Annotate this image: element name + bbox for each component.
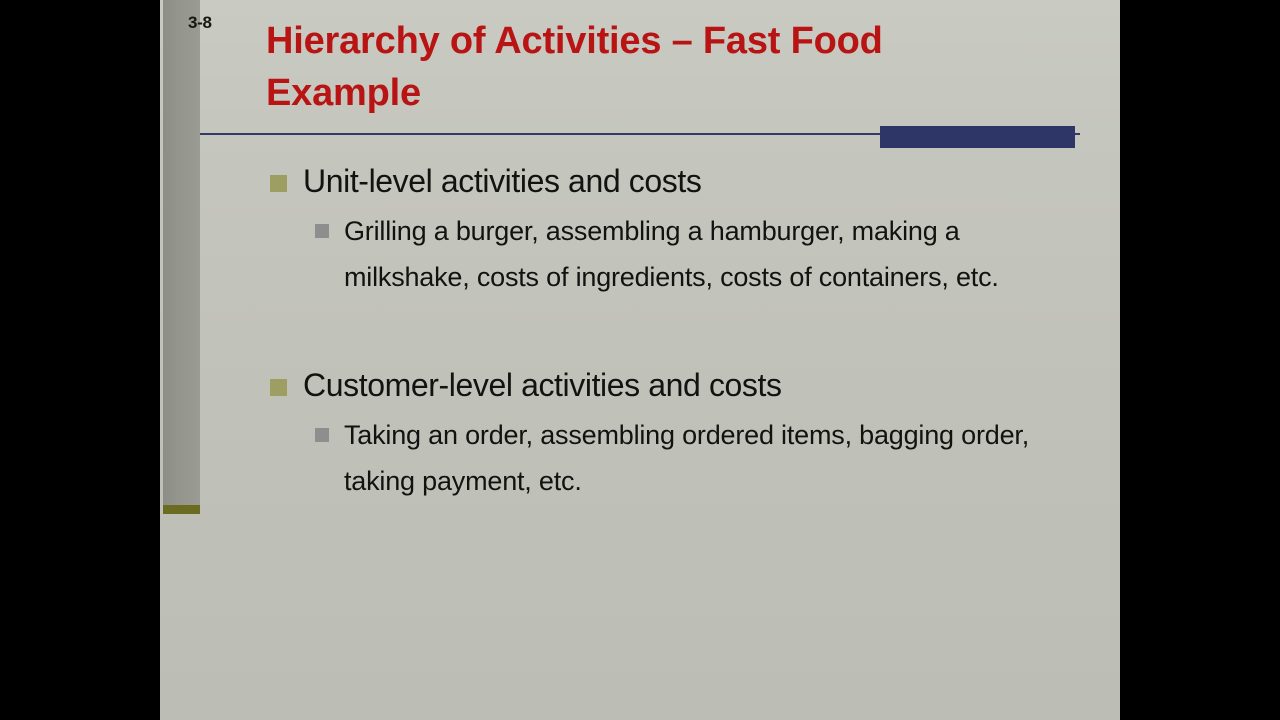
square-sub-bullet-icon — [315, 428, 329, 442]
bullet-level2: Grilling a burger, assembling a hamburge… — [160, 208, 1120, 300]
presentation-screen: 3-8 Hierarchy of Activities – Fast Food … — [0, 0, 1280, 720]
title-accent-block — [880, 126, 1075, 148]
bullet-level2-label: Grilling a burger, assembling a hamburge… — [344, 216, 999, 292]
slide-number: 3-8 — [188, 13, 212, 33]
bullet-level1-label: Customer-level activities and costs — [303, 367, 782, 403]
slide-canvas: 3-8 Hierarchy of Activities – Fast Food … — [160, 0, 1120, 720]
bullet-level2: Taking an order, assembling ordered item… — [160, 412, 1120, 504]
bullet-level1: Customer-level activities and costs — [160, 362, 1120, 408]
letterbox-left — [0, 0, 160, 720]
square-bullet-icon — [270, 379, 287, 396]
square-bullet-icon — [270, 175, 287, 192]
bullet-level1-label: Unit-level activities and costs — [303, 163, 701, 199]
side-decoration-foot — [163, 505, 200, 514]
bullet-group-spacer — [160, 300, 1120, 362]
square-sub-bullet-icon — [315, 224, 329, 238]
slide-title: Hierarchy of Activities – Fast Food Exam… — [266, 15, 1026, 119]
slide-body: Unit-level activities and costs Grilling… — [160, 158, 1120, 504]
bullet-level2-label: Taking an order, assembling ordered item… — [344, 420, 1029, 496]
bullet-level1: Unit-level activities and costs — [160, 158, 1120, 204]
letterbox-right — [1120, 0, 1280, 720]
